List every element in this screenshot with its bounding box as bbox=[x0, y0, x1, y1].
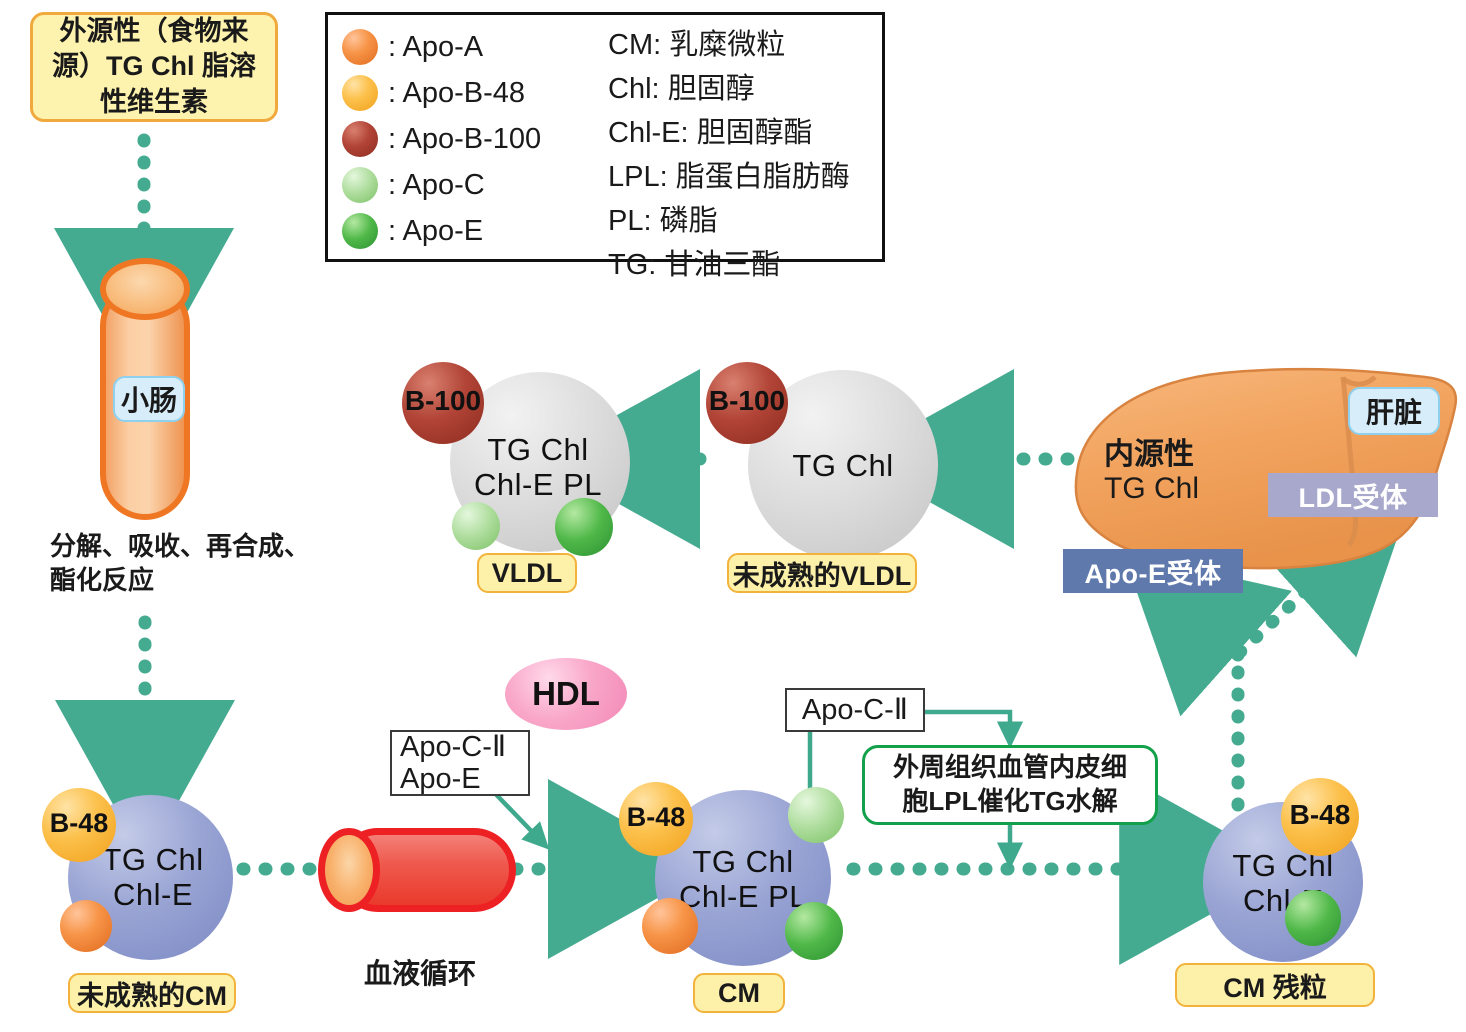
legend-item: : Apo-B-48 bbox=[342, 71, 541, 115]
legend-item: : Apo-A bbox=[342, 25, 541, 69]
apo-transfer-line1: Apo-C-Ⅱ bbox=[400, 731, 506, 763]
legend-abbrev: CM: 乳糜微粒 bbox=[608, 23, 850, 67]
nascent-cm-pill-label: 未成熟的CM bbox=[77, 974, 227, 1013]
legend-abbrev: Chl-E: 胆固醇酯 bbox=[608, 111, 850, 155]
cm-remnant-pill-label: CM 残粒 bbox=[1223, 966, 1327, 1005]
legend-label: : Apo-A bbox=[388, 31, 483, 64]
apo-transfer-line2: Apo-E bbox=[400, 763, 481, 795]
mature-cm-apo-c-sphere bbox=[788, 787, 844, 843]
vldl-pill: VLDL bbox=[477, 553, 577, 593]
mature-cm-apo-e-sphere bbox=[785, 902, 843, 960]
legend-apo-column: : Apo-A : Apo-B-48 : Apo-B-100 : Apo-C :… bbox=[342, 25, 541, 255]
apo-c2-label: Apo-C-Ⅱ bbox=[802, 694, 908, 726]
intestine-top-opening bbox=[100, 258, 190, 320]
nascent-vldl-pill-label: 未成熟的VLDL bbox=[733, 554, 912, 593]
cm-remnant-particle: TG Chl Chl-E B-48 bbox=[1195, 778, 1410, 966]
legend-label: : Apo-B-100 bbox=[388, 123, 541, 156]
mature-cm-apo-b48-sphere bbox=[619, 782, 693, 856]
exogenous-source-box: 外源性（食物来 源）TG Chl 脂溶 性维生素 bbox=[30, 12, 278, 122]
vldl-particle: TG Chl Chl-E PL B-100 bbox=[395, 360, 650, 560]
intestine-tag: 小肠 bbox=[113, 376, 185, 422]
legend-abbrev-column: CM: 乳糜微粒 Chl: 胆固醇 Chl-E: 胆固醇酯 LPL: 脂蛋白脂肪… bbox=[608, 23, 850, 287]
liver-tag-label: 肝脏 bbox=[1366, 391, 1422, 431]
mature-cm-pill-label: CM bbox=[718, 978, 760, 1009]
nascent-cm-particle: TG Chl Chl-E B-48 bbox=[40, 780, 270, 960]
mature-cm-pill: CM bbox=[693, 973, 785, 1013]
liver-tag: 肝脏 bbox=[1348, 387, 1440, 435]
apo-transfer-box: Apo-C-Ⅱ Apo-E bbox=[390, 730, 530, 796]
endogenous-line2: TG Chl bbox=[1104, 472, 1199, 506]
legend-abbrev: LPL: 脂蛋白脂肪酶 bbox=[608, 155, 850, 199]
legend-abbrev: TG: 甘油三酯 bbox=[608, 243, 850, 287]
vldl-apo-b100-sphere bbox=[402, 362, 484, 444]
nascent-cm-apo-a-sphere bbox=[60, 900, 112, 952]
apo-b48-sphere bbox=[342, 75, 378, 111]
nascent-vldl-pill: 未成熟的VLDL bbox=[727, 553, 917, 593]
lpl-box-text: 外周组织血管内皮细 胞LPL催化TG水解 bbox=[893, 751, 1127, 819]
blood-vessel bbox=[318, 828, 518, 912]
apo-b100-sphere bbox=[342, 121, 378, 157]
cm-remnant-apo-b48-sphere bbox=[1281, 778, 1359, 856]
lpl-box: 外周组织血管内皮细 胞LPL催化TG水解 bbox=[862, 745, 1158, 825]
apoe-receptor-bar: Apo-E受体 bbox=[1063, 549, 1243, 593]
mature-cm-particle: TG Chl Chl-E PL B-48 bbox=[615, 772, 865, 967]
legend-item: : Apo-B-100 bbox=[342, 117, 541, 161]
vldl-apo-e-sphere bbox=[555, 498, 613, 556]
legend-abbrev: PL: 磷脂 bbox=[608, 199, 850, 243]
intestine-tag-label: 小肠 bbox=[121, 379, 177, 419]
vessel-caption: 血液循环 bbox=[364, 920, 476, 993]
vldl-pill-label: VLDL bbox=[492, 558, 563, 589]
apo-c-sphere bbox=[342, 167, 378, 203]
legend-item: : Apo-E bbox=[342, 209, 541, 253]
intestine-caption: 分解、吸收、再合成、 酯化反应 bbox=[50, 530, 310, 598]
legend-label: : Apo-C bbox=[388, 169, 485, 202]
nascent-cm-pill: 未成熟的CM bbox=[68, 973, 236, 1013]
legend-label: : Apo-B-48 bbox=[388, 77, 525, 110]
legend-label: : Apo-E bbox=[388, 215, 483, 248]
vessel-opening bbox=[318, 828, 380, 912]
legend-item: : Apo-C bbox=[342, 163, 541, 207]
apo-c2-box: Apo-C-Ⅱ bbox=[785, 688, 925, 732]
nascent-cm-apo-b48-sphere bbox=[42, 788, 116, 862]
ldl-receptor-label: LDL受体 bbox=[1299, 476, 1408, 515]
apo-a-sphere bbox=[342, 29, 378, 65]
legend-abbrev: Chl: 胆固醇 bbox=[608, 67, 850, 111]
hdl-label: HDL bbox=[532, 675, 600, 713]
ldl-receptor-bar: LDL受体 bbox=[1268, 473, 1438, 517]
hdl-ellipse: HDL bbox=[505, 658, 627, 730]
nascent-vldl-apo-b100-sphere bbox=[706, 362, 788, 444]
exogenous-source-text: 外源性（食物来 源）TG Chl 脂溶 性维生素 bbox=[52, 14, 256, 119]
arrow-apoc2-to-lpl-box bbox=[925, 712, 1010, 735]
liver-endogenous-text: 内源性 TG Chl bbox=[1104, 438, 1199, 506]
cm-remnant-pill: CM 残粒 bbox=[1175, 963, 1375, 1007]
apoe-receptor-label: Apo-E受体 bbox=[1085, 552, 1222, 591]
legend-box: : Apo-A : Apo-B-48 : Apo-B-100 : Apo-C :… bbox=[325, 12, 885, 262]
cm-remnant-apo-e-sphere bbox=[1285, 890, 1341, 946]
vldl-apo-c-sphere bbox=[452, 502, 500, 550]
nascent-vldl-particle: TG Chl B-100 bbox=[700, 360, 950, 560]
apo-e-sphere bbox=[342, 213, 378, 249]
endogenous-line1: 内源性 bbox=[1104, 438, 1199, 472]
mature-cm-apo-a-sphere bbox=[642, 898, 698, 954]
